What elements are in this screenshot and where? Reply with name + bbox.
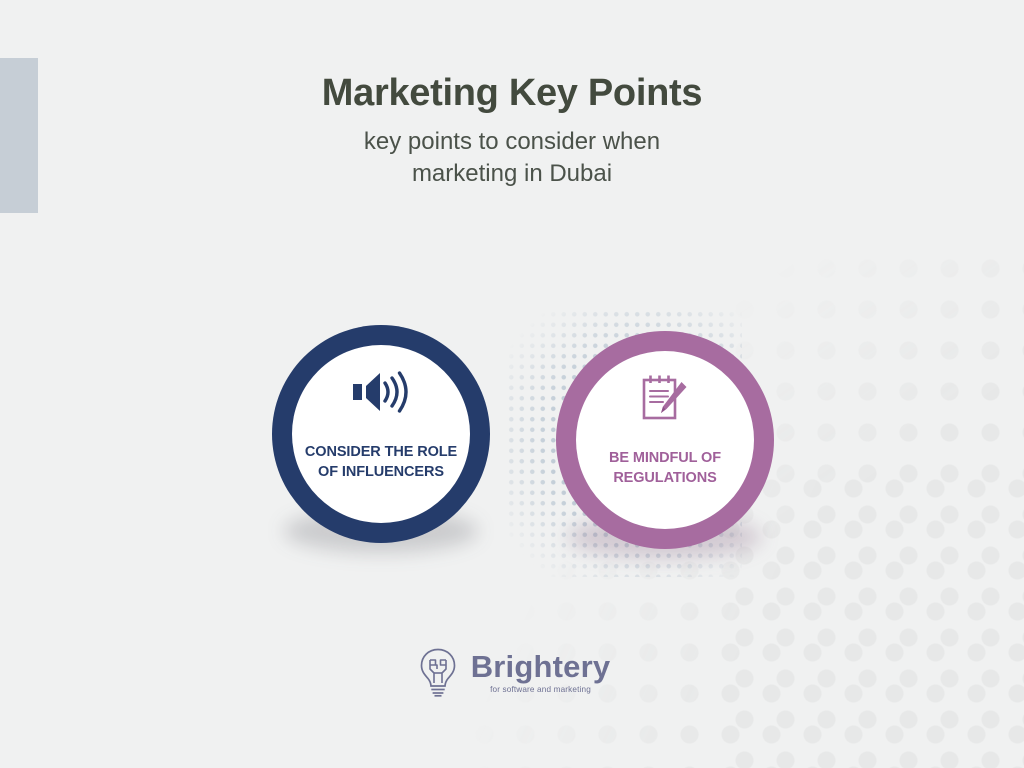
badge-label: BE MINDFUL OF REGULATIONS: [554, 449, 776, 488]
badge-label-line-1: CONSIDER THE ROLE: [270, 443, 492, 463]
key-points-badge-group: CONSIDER THE ROLE OF INFLUENCERS: [0, 325, 1024, 585]
badge-inner-disc: CONSIDER THE ROLE OF INFLUENCERS: [292, 345, 470, 523]
page-subtitle: key points to consider when marketing in…: [0, 126, 1024, 190]
lightbulb-b-monogram-icon: [414, 645, 462, 699]
badge-inner-disc: BE MINDFUL OF REGULATIONS: [576, 351, 754, 529]
badge-label-line-2: REGULATIONS: [554, 469, 776, 489]
badge-label-line-2: OF INFLUENCERS: [270, 463, 492, 483]
notepad-pencil-icon: [639, 375, 691, 421]
speaker-volume-icon: [350, 369, 412, 415]
badge-label-line-1: BE MINDFUL OF: [554, 449, 776, 469]
brightery-logo: Brightery for software and marketing: [0, 645, 1024, 699]
badge-ring: BE MINDFUL OF REGULATIONS: [556, 331, 774, 549]
badge-ring: CONSIDER THE ROLE OF INFLUENCERS: [272, 325, 490, 543]
page-subtitle-line-1: key points to consider when: [0, 126, 1024, 158]
logo-wordmark: Brightery: [471, 651, 611, 682]
page-subtitle-line-2: marketing in Dubai: [0, 158, 1024, 190]
page-title: Marketing Key Points: [0, 74, 1024, 114]
logo-text-block: Brightery for software and marketing: [471, 651, 611, 694]
badge-consider-the-role-of-influencers[interactable]: CONSIDER THE ROLE OF INFLUENCERS: [272, 325, 490, 543]
logo-tagline: for software and marketing: [490, 685, 591, 694]
badge-label: CONSIDER THE ROLE OF INFLUENCERS: [270, 443, 492, 482]
header: Marketing Key Points key points to consi…: [0, 74, 1024, 190]
badge-be-mindful-of-regulations[interactable]: BE MINDFUL OF REGULATIONS: [556, 331, 774, 549]
